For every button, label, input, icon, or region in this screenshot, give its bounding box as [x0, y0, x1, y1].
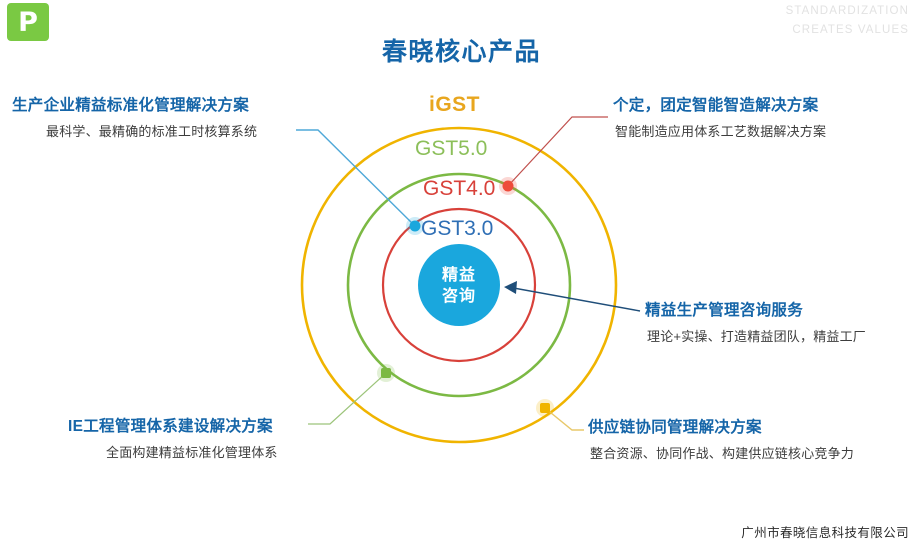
callout-top-left-heading: 生产企业精益标准化管理解决方案	[12, 93, 257, 115]
ring-label-gst30: GST3.0	[421, 217, 493, 241]
callout-top-right: 个定，团定智能智造解决方案 智能制造应用体系工艺数据解决方案	[613, 93, 826, 140]
node-yellow	[540, 403, 550, 413]
connector-top-left	[296, 130, 415, 226]
connector-middle-right-arrowhead	[504, 281, 517, 294]
callout-top-right-heading: 个定，团定智能智造解决方案	[613, 93, 826, 115]
callout-middle-right-heading: 精益生产管理咨询服务	[645, 298, 866, 320]
node-red	[503, 181, 514, 192]
callout-middle-right-subtitle: 理论+实操、打造精益团队，精益工厂	[647, 326, 866, 345]
slide-canvas: P STANDARDIZATION CREATES VALUES 春晓核心产品	[0, 0, 923, 549]
callout-bottom-left-subtitle: 全面构建精益标准化管理体系	[106, 442, 278, 461]
callout-top-left: 生产企业精益标准化管理解决方案 最科学、最精确的标准工时核算系统	[12, 93, 257, 140]
core-label-line1: 精益	[442, 265, 476, 286]
callout-bottom-right: 供应链协同管理解决方案 整合资源、协同作战、构建供应链核心竞争力	[588, 415, 854, 462]
callout-middle-right: 精益生产管理咨询服务 理论+实操、打造精益团队，精益工厂	[645, 298, 866, 345]
core-label: 精益 咨询	[419, 252, 499, 320]
connector-middle-right	[508, 287, 640, 311]
core-label-line2: 咨询	[442, 286, 476, 307]
ring-label-igst: iGST	[429, 93, 480, 117]
callout-top-right-subtitle: 智能制造应用体系工艺数据解决方案	[615, 121, 826, 140]
ring-label-gst50: GST5.0	[415, 137, 487, 161]
callout-bottom-right-heading: 供应链协同管理解决方案	[588, 415, 854, 437]
connector-top-right	[508, 117, 608, 186]
ring-label-gst40: GST4.0	[423, 177, 495, 201]
callout-bottom-right-subtitle: 整合资源、协同作战、构建供应链核心竞争力	[590, 443, 854, 462]
callout-top-left-subtitle: 最科学、最精确的标准工时核算系统	[46, 121, 257, 140]
footer-company-name: 广州市春晓信息科技有限公司	[741, 522, 909, 541]
node-green	[381, 368, 391, 378]
node-blue	[410, 221, 421, 232]
callout-bottom-left-heading: IE工程管理体系建设解决方案	[68, 414, 278, 436]
callout-bottom-left: IE工程管理体系建设解决方案 全面构建精益标准化管理体系	[68, 414, 278, 461]
